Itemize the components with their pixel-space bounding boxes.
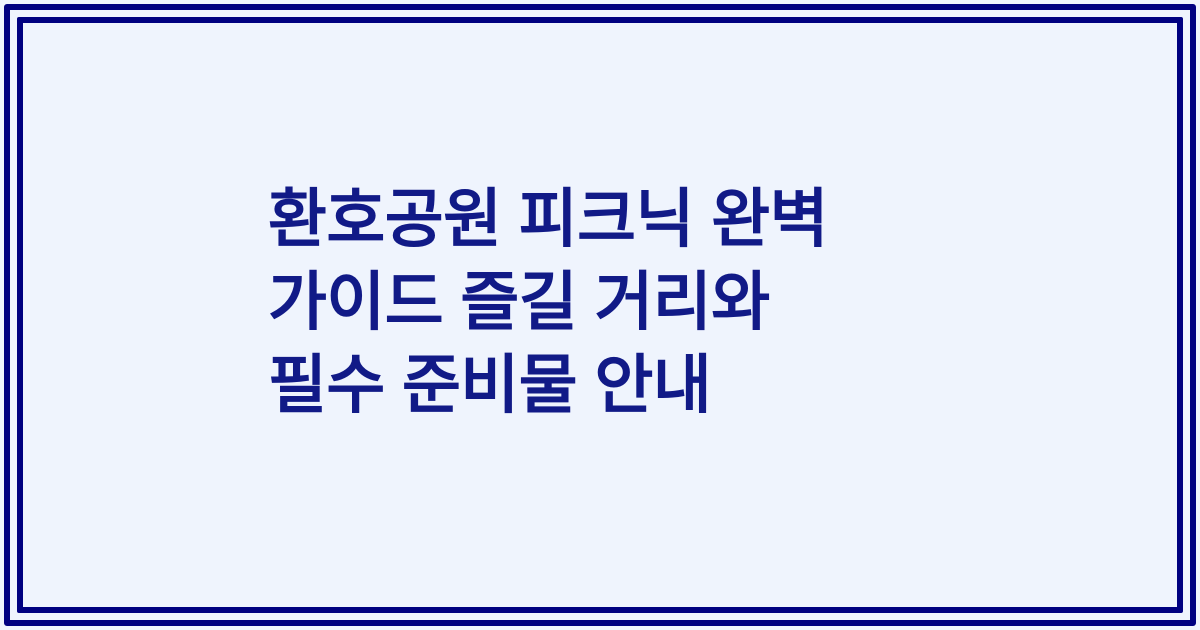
page-title: 환호공원 피크닉 완벽 가이드 즐길 거리와 필수 준비물 안내 bbox=[268, 178, 1028, 427]
banner-card: 환호공원 피크닉 완벽 가이드 즐길 거리와 필수 준비물 안내 bbox=[0, 0, 1200, 630]
headline-block: 환호공원 피크닉 완벽 가이드 즐길 거리와 필수 준비물 안내 bbox=[268, 178, 1028, 427]
